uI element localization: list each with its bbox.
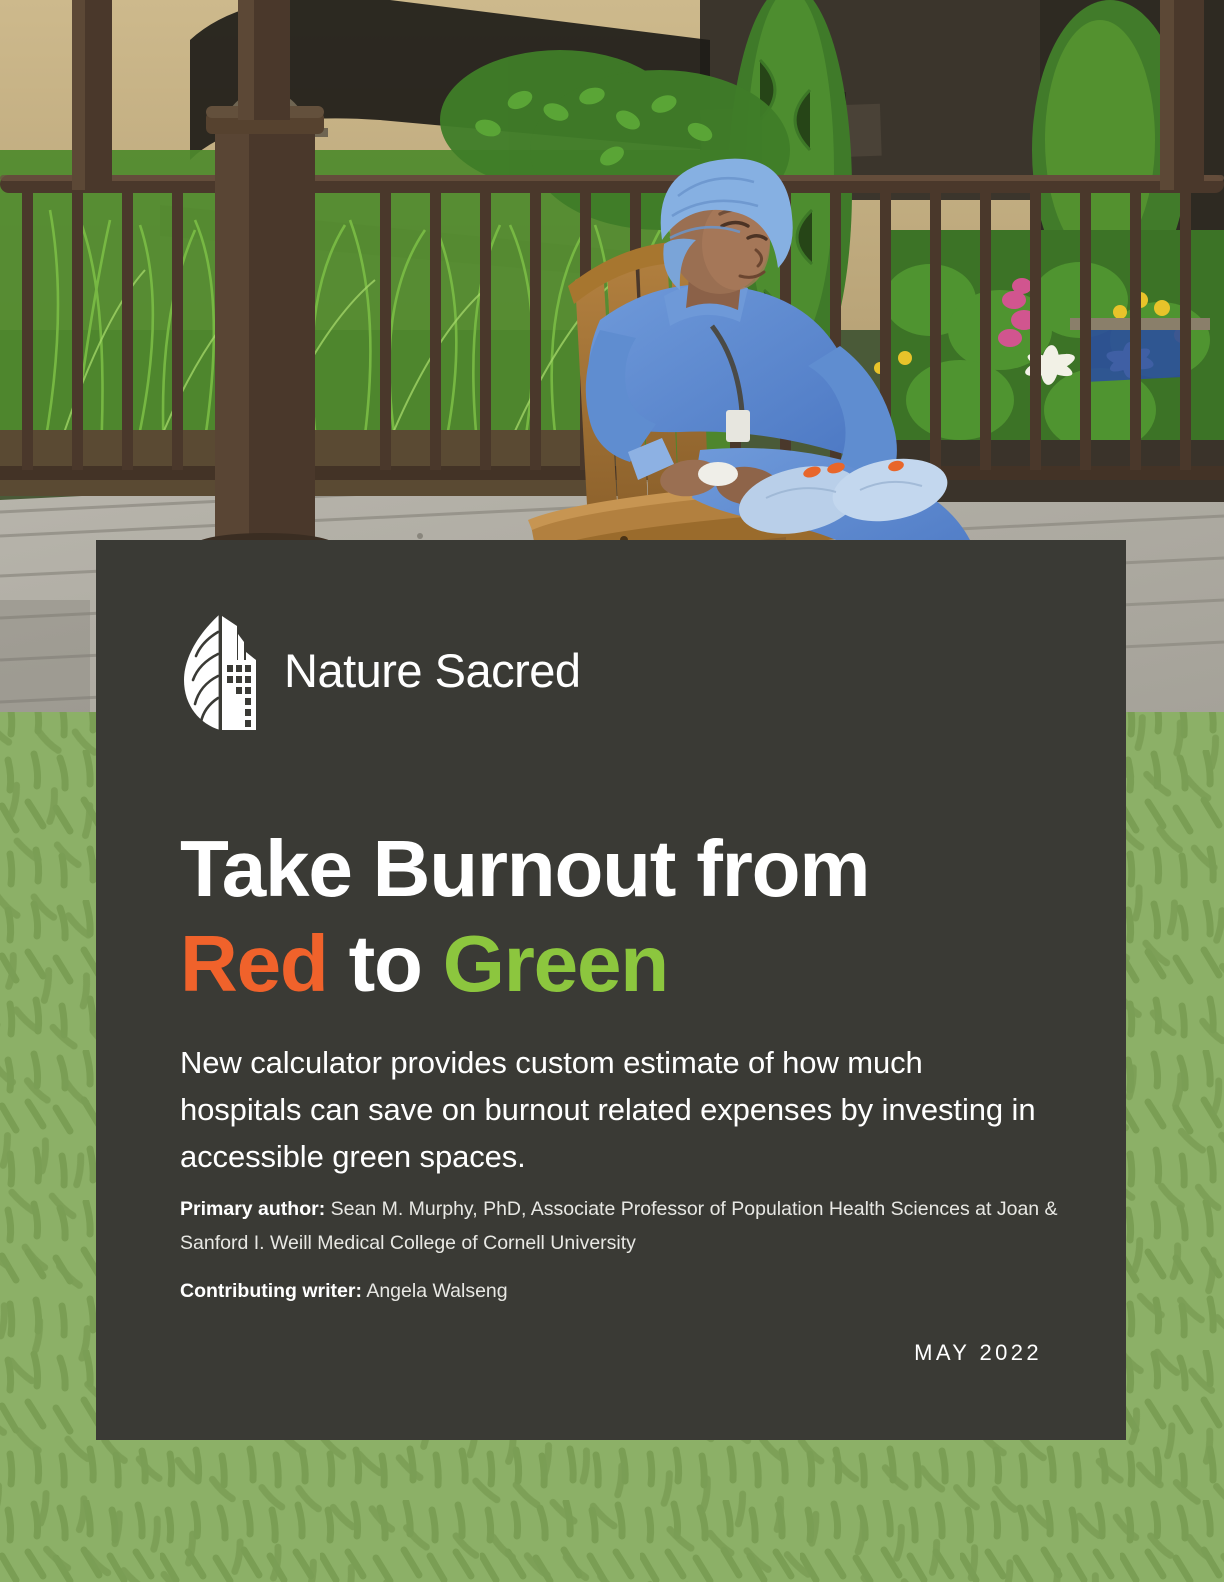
publication-date: MAY 2022: [914, 1340, 1042, 1366]
report-cover-page: Nature Sacred Take Burnout from Red to G…: [0, 0, 1224, 1582]
primary-author-line: Primary author: Sean M. Murphy, PhD, Ass…: [180, 1192, 1060, 1260]
contributing-writer-value: Angela Walseng: [366, 1280, 507, 1302]
wordmark-text: Nature Sacred: [284, 644, 581, 697]
contributing-writer-label: Contributing writer:: [180, 1280, 362, 1302]
headline-line-2: Red to Green: [180, 923, 1100, 1005]
headline-line-1: Take Burnout from: [180, 824, 869, 913]
headline-word-to: to: [349, 919, 422, 1008]
brand-logo: Nature Sacred: [182, 612, 584, 732]
leaf-building-icon: [182, 612, 262, 732]
page-title: Take Burnout from Red to Green: [180, 828, 1100, 1005]
cover-content-panel: Nature Sacred Take Burnout from Red to G…: [96, 540, 1126, 1440]
primary-author-label: Primary author:: [180, 1198, 325, 1220]
nature-sacred-wordmark: Nature Sacred: [284, 644, 584, 700]
credits-block: Primary author: Sean M. Murphy, PhD, Ass…: [180, 1192, 1060, 1308]
subtitle-text: New calculator provides custom estimate …: [180, 1039, 1040, 1180]
headline-word-green: Green: [443, 919, 668, 1008]
contributing-writer-line: Contributing writer: Angela Walseng: [180, 1274, 1060, 1308]
headline-word-red: Red: [180, 919, 328, 1008]
